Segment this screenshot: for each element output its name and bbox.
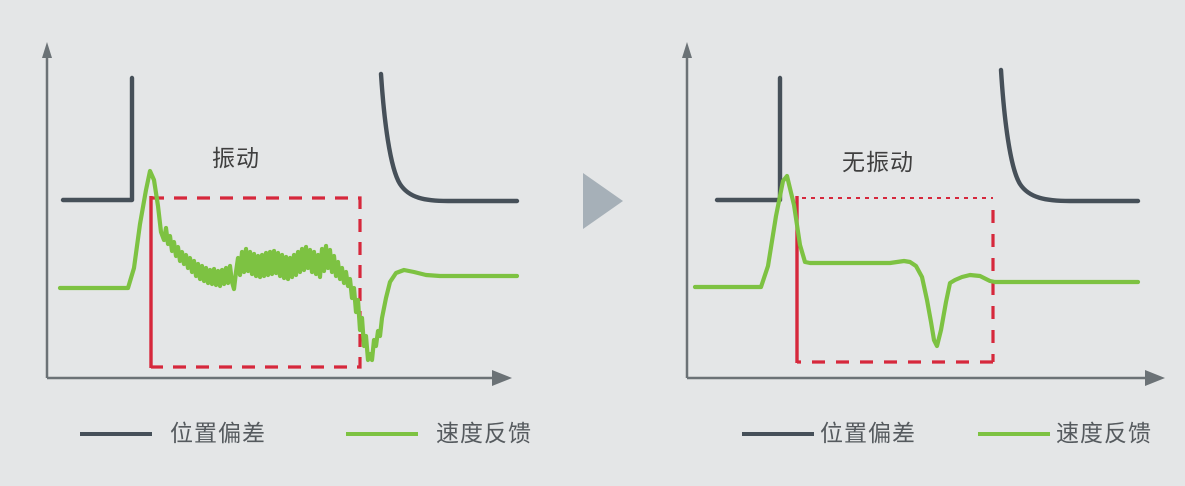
legend-label-position-deviation: 位置偏差 — [170, 423, 266, 446]
x-axis-arrowhead-icon — [1145, 370, 1165, 386]
legend-swatch-green-icon — [346, 432, 418, 436]
annotation-label-vibration: 振动 — [212, 148, 260, 171]
axes-after — [682, 42, 1165, 386]
position-deviation-step — [717, 78, 780, 200]
vibration-window-marker-before — [151, 196, 360, 368]
position-deviation-decay — [381, 74, 517, 201]
chart-panel-after: 无振动 位置偏差 速度反馈 — [650, 0, 1185, 486]
legend-swatch-green-icon — [978, 432, 1050, 436]
settling-window-marker-after — [797, 196, 993, 363]
position-deviation-step — [63, 78, 132, 200]
legend-swatch-dark-icon — [80, 432, 152, 436]
triangle-right-icon — [583, 173, 623, 229]
legend-after: 位置偏差 速度反馈 — [742, 414, 1152, 454]
legend-label-position-deviation: 位置偏差 — [820, 423, 916, 446]
y-axis-arrowhead-icon — [42, 42, 52, 58]
series-position-deviation-before — [63, 74, 517, 201]
chart-panel-before: 振动 位置偏差 速度反馈 — [0, 0, 560, 486]
axes-before — [42, 42, 512, 386]
red-dashed-box — [151, 198, 360, 367]
position-deviation-decay — [1001, 70, 1138, 201]
legend-item-velocity-feedback: 速度反馈 — [978, 423, 1152, 446]
legend-before: 位置偏差 速度反馈 — [80, 414, 532, 454]
x-axis-arrowhead-icon — [492, 370, 512, 386]
y-axis-arrowhead-icon — [682, 42, 692, 58]
legend-swatch-dark-icon — [742, 432, 814, 436]
legend-item-position-deviation: 位置偏差 — [80, 423, 266, 446]
comparison-figure: 振动 位置偏差 速度反馈 — [0, 0, 1185, 486]
annotation-label-no-vibration: 无振动 — [842, 152, 914, 175]
series-position-deviation-after — [717, 70, 1138, 201]
legend-label-velocity-feedback: 速度反馈 — [436, 423, 532, 446]
legend-item-position-deviation: 位置偏差 — [742, 423, 916, 446]
legend-label-velocity-feedback: 速度反馈 — [1056, 423, 1152, 446]
legend-item-velocity-feedback: 速度反馈 — [346, 423, 532, 446]
